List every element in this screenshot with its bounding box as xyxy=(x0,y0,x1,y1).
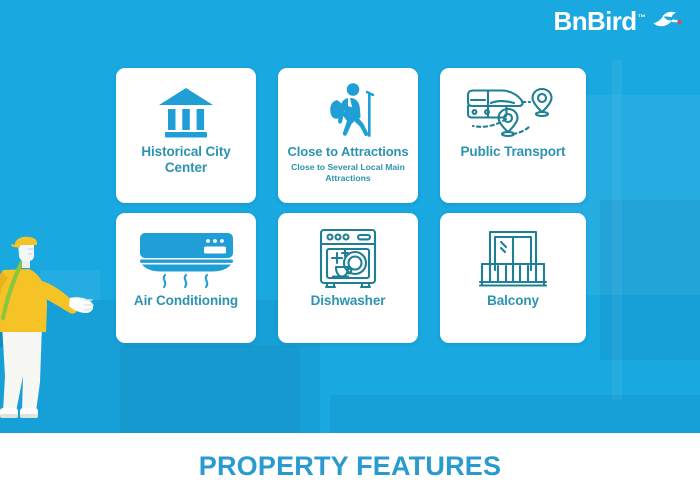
air-conditioner-icon xyxy=(134,225,239,293)
brand-name-text: BnBird xyxy=(554,6,637,36)
hero-background: BnBird™ xyxy=(0,0,700,433)
slide-canvas: BnBird™ xyxy=(0,0,700,500)
brand-name: BnBird™ xyxy=(554,8,645,34)
dishwasher-icon xyxy=(312,225,384,293)
caption-bar: PROPERTY FEATURES xyxy=(0,433,700,500)
feature-title: Dishwasher xyxy=(311,293,386,309)
feature-subtitle: Close to Several Local Main Attractions xyxy=(284,162,412,183)
feature-card-text: Historical City Center xyxy=(122,144,250,195)
hiker-backpacker-icon xyxy=(317,80,379,144)
feature-card-air-conditioning[interactable]: Air Conditioning xyxy=(116,213,256,343)
feature-card-balcony[interactable]: Balcony xyxy=(440,213,586,343)
feature-card-text: Balcony xyxy=(446,293,580,335)
feature-title: Balcony xyxy=(487,293,539,309)
feature-card-close-to-attractions[interactable]: Close to Attractions Close to Several Lo… xyxy=(278,68,418,203)
feature-title: Close to Attractions xyxy=(287,144,408,159)
feature-card-public-transport[interactable]: Public Transport xyxy=(440,68,586,203)
feature-title: Air Conditioning xyxy=(134,293,238,309)
bird-icon xyxy=(652,10,682,32)
feature-title: Public Transport xyxy=(461,144,566,160)
museum-building-icon xyxy=(155,80,217,144)
feature-title: Historical City Center xyxy=(122,144,250,176)
balcony-railing-icon xyxy=(472,225,554,293)
feature-card-text: Public Transport xyxy=(446,144,580,195)
trademark-symbol: ™ xyxy=(638,13,645,22)
page-title: PROPERTY FEATURES xyxy=(199,451,501,482)
feature-card-text: Air Conditioning xyxy=(122,293,250,335)
feature-card-historical-city-center[interactable]: Historical City Center xyxy=(116,68,256,203)
feature-card-grid: Historical City Center xyxy=(116,68,586,343)
bus-route-pins-icon xyxy=(458,80,568,144)
feature-card-text: Close to Attractions Close to Several Lo… xyxy=(284,144,412,195)
brand-logo[interactable]: BnBird™ xyxy=(554,8,682,34)
feature-card-text: Dishwasher xyxy=(284,293,412,335)
feature-card-dishwasher[interactable]: Dishwasher xyxy=(278,213,418,343)
host-character-illustration xyxy=(0,236,114,433)
